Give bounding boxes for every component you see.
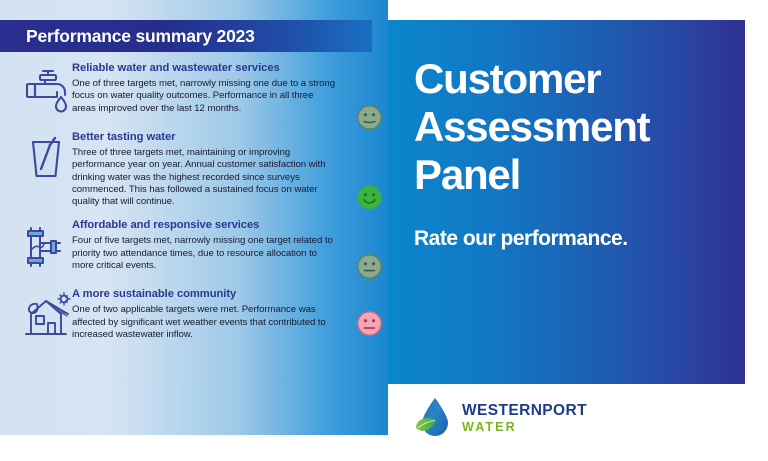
panel-title-line-3: Panel: [414, 151, 520, 198]
neutral-face-icon: [356, 104, 383, 131]
panel-title-line-1: Customer: [414, 55, 600, 102]
performance-sections: Reliable water and wastewater services O…: [0, 62, 388, 357]
tap-faucet-icon: [20, 62, 72, 120]
right-panel-content: Customer Assessment Panel Rate our perfo…: [388, 20, 745, 251]
section-text: Four of five targets met, narrowly missi…: [72, 235, 336, 272]
page-title: Performance summary 2023: [0, 26, 255, 47]
pipe-valve-icon: [20, 219, 72, 277]
performance-summary-title-bar: Performance summary 2023: [0, 20, 372, 52]
section-body: A more sustainable community One of two …: [72, 288, 388, 341]
section-text: Three of three targets met, maintaining …: [72, 147, 336, 208]
section-better-tasting-water: Better tasting water Three of three targ…: [0, 131, 388, 208]
westernport-water-logo: WESTERNPORT WATER: [414, 396, 587, 440]
section-affordable-responsive: Affordable and responsive services Four …: [0, 219, 388, 277]
section-reliable-water: Reliable water and wastewater services O…: [0, 62, 388, 120]
logo-name-bottom: WATER: [462, 421, 587, 434]
section-heading: Better tasting water: [72, 131, 336, 144]
drinking-glass-icon: [20, 131, 72, 189]
happy-face-icon: [356, 184, 383, 211]
section-body: Reliable water and wastewater services O…: [72, 62, 388, 115]
panel-title: Customer Assessment Panel: [414, 55, 719, 199]
section-heading: Affordable and responsive services: [72, 219, 336, 232]
panel-title-line-2: Assessment: [414, 103, 649, 150]
section-body: Affordable and responsive services Four …: [72, 219, 388, 272]
section-body: Better tasting water Three of three targ…: [72, 131, 388, 208]
sad-face-icon: [356, 310, 383, 337]
neutral-face-icon: [356, 253, 383, 280]
panel-subtitle: Rate our performance.: [414, 227, 719, 251]
section-heading: A more sustainable community: [72, 288, 336, 301]
performance-summary-poster: Performance summary 2023: [0, 0, 768, 461]
section-text: One of three targets met, narrowly missi…: [72, 78, 336, 115]
section-heading: Reliable water and wastewater services: [72, 62, 336, 75]
right-panel: Customer Assessment Panel Rate our perfo…: [388, 20, 745, 384]
sustainable-house-icon: [20, 288, 72, 346]
section-text: One of two applicable targets were met. …: [72, 304, 336, 341]
logo-name-top: WESTERNPORT: [462, 403, 587, 419]
water-droplet-leaf-icon: [414, 396, 454, 440]
left-panel: Performance summary 2023: [0, 0, 388, 435]
logo-wordmark: WESTERNPORT WATER: [462, 403, 587, 433]
section-sustainable-community: A more sustainable community One of two …: [0, 288, 388, 346]
